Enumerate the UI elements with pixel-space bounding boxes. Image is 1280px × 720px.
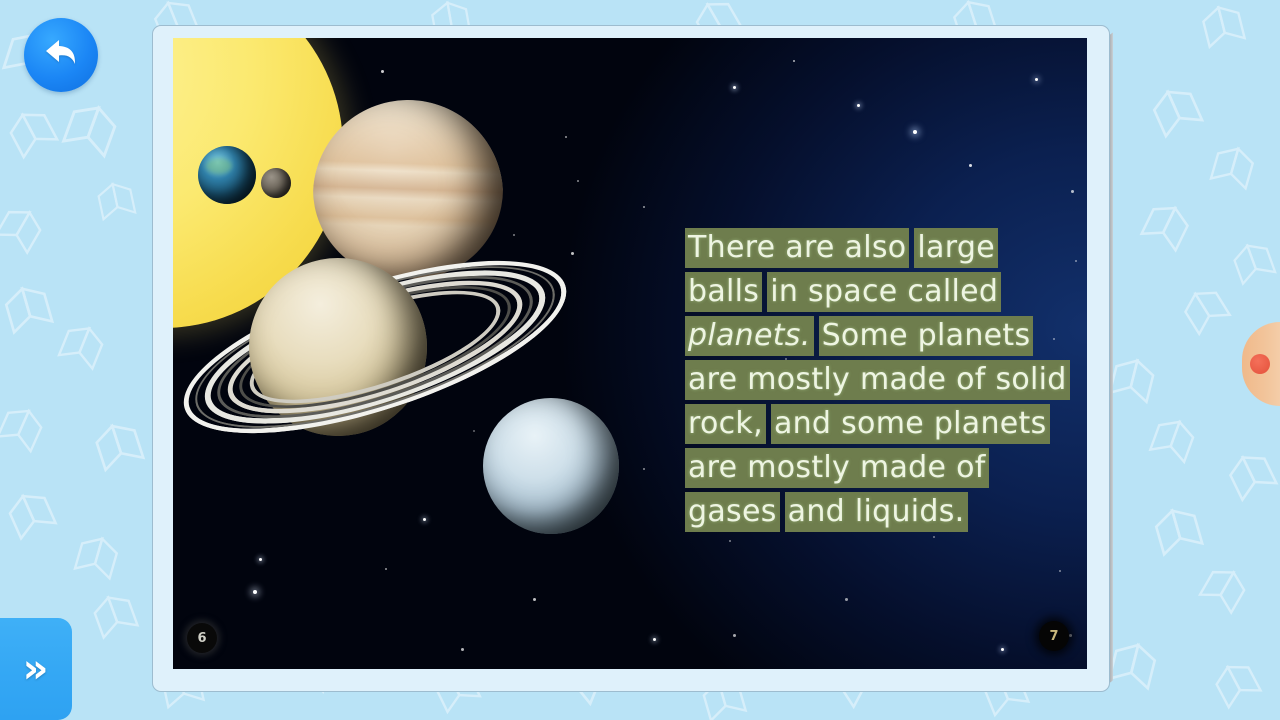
next-page-button[interactable]: »: [0, 618, 72, 720]
earth-planet: [198, 146, 256, 204]
narration-line: gasesand liquids.: [685, 492, 1085, 532]
highlight-segment: Some planets: [819, 316, 1034, 356]
highlight-segment: There are also: [685, 228, 909, 268]
double-chevron-right-icon: »: [23, 649, 46, 689]
highlight-segment: and some planets: [771, 404, 1050, 444]
narration-line: are mostly made of solid: [685, 360, 1085, 400]
highlight-segment: balls: [685, 272, 762, 312]
highlight-segment: large: [914, 228, 998, 268]
narration-line: planets.Some planets: [685, 316, 1085, 356]
highlight-segment: rock,: [685, 404, 766, 444]
highlight-segment: planets.: [685, 316, 814, 356]
page-number-right-label: 7: [1049, 629, 1058, 644]
side-marker-dot-icon: [1250, 354, 1270, 374]
page-number-left[interactable]: 6: [187, 623, 217, 653]
highlight-segment: and liquids.: [785, 492, 968, 532]
uranus-planet: [483, 398, 619, 534]
back-arrow-icon: [37, 29, 85, 81]
narration-line: are mostly made of: [685, 448, 1085, 488]
slide-content[interactable]: There are alsolargeballsin space calledp…: [173, 38, 1087, 669]
narration-line: There are alsolarge: [685, 228, 1085, 268]
slide-frame: There are alsolargeballsin space calledp…: [152, 25, 1110, 692]
highlight-segment: are mostly made of solid: [685, 360, 1070, 400]
narration-line: rock,and some planets: [685, 404, 1085, 444]
narration-line: ballsin space called: [685, 272, 1085, 312]
highlight-segment: are mostly made of: [685, 448, 989, 488]
highlight-segment: gases: [685, 492, 780, 532]
narration-text: There are alsolargeballsin space calledp…: [685, 228, 1085, 536]
page-number-left-label: 6: [197, 631, 206, 646]
page-number-right[interactable]: 7: [1039, 621, 1069, 651]
moon-body: [261, 168, 291, 198]
back-button[interactable]: [24, 18, 98, 92]
highlight-segment: in space called: [767, 272, 1001, 312]
